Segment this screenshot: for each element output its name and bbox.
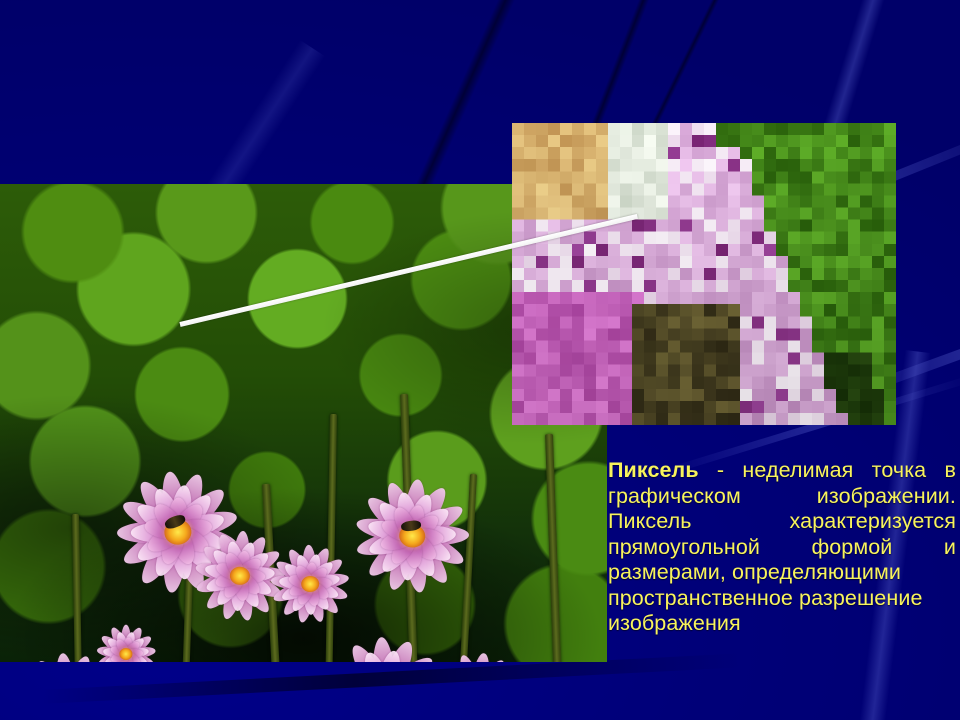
water-lily-flower	[269, 543, 352, 626]
caption-paragraph: Пиксель - неделимая точка в графическом …	[608, 458, 956, 586]
caption-term: Пиксель	[608, 458, 699, 482]
slide-canvas: Пиксель - неделимая точка в графическом …	[0, 0, 960, 720]
caption-text-block: Пиксель - неделимая точка в графическом …	[608, 458, 956, 637]
lily-stamen-core	[301, 576, 319, 593]
lily-petal	[54, 652, 78, 662]
lily-petal	[470, 652, 491, 662]
caption-dash: -	[699, 458, 743, 482]
water-lily-flower	[96, 624, 156, 662]
water-lily-flower	[348, 472, 475, 599]
pixel-grid-canvas	[512, 123, 896, 425]
caption-paragraph-last: пространственное разрешение изображения	[608, 586, 956, 637]
pixelated-zoom-inset	[512, 123, 896, 425]
